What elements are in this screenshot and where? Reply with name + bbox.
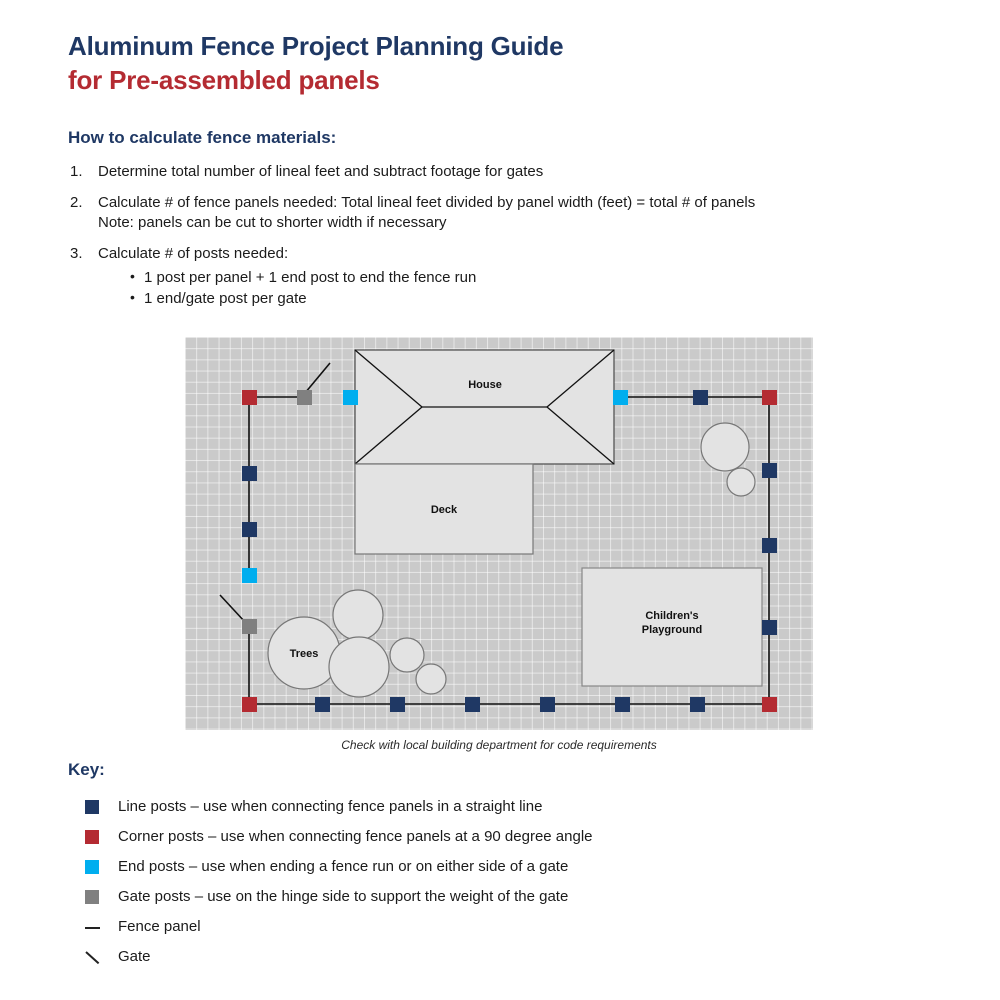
house-label: House	[415, 378, 555, 392]
house-shape	[355, 350, 614, 464]
title-primary-line: Aluminum Fence Project Planning Guide	[68, 29, 563, 63]
line-post[interactable]	[762, 538, 777, 553]
key-row-gate-post: Gate posts – use on the hinge side to su…	[68, 882, 948, 912]
key-label: Gate posts – use on the hinge side to su…	[118, 887, 568, 907]
how-to-step-1: 1. Determine total number of lineal feet…	[68, 162, 938, 182]
how-to-step-2: 2. Calculate # of fence panels needed: T…	[68, 193, 938, 233]
key-row-gate: Gate	[68, 942, 948, 972]
bullet-item: 1 post per panel + 1 end post to end the…	[130, 267, 938, 288]
key-row-line-post: Line posts – use when connecting fence p…	[68, 792, 948, 822]
line-post[interactable]	[315, 697, 330, 712]
key-row-fence-panel: Fence panel	[68, 912, 948, 942]
tree-circles-right	[701, 423, 755, 496]
how-to-heading: How to calculate fence materials:	[68, 128, 938, 148]
line-post[interactable]	[762, 463, 777, 478]
end-post[interactable]	[242, 568, 257, 583]
line-post[interactable]	[762, 620, 777, 635]
key-heading: Key:	[68, 760, 948, 780]
how-to-section: How to calculate fence materials: 1. Det…	[68, 128, 938, 320]
how-to-step-3: 3. Calculate # of posts needed: 1 post p…	[68, 244, 938, 309]
key-row-corner-post: Corner posts – use when connecting fence…	[68, 822, 948, 852]
bullet-item: 1 end/gate post per gate	[130, 288, 938, 309]
step-number: 3.	[70, 244, 83, 264]
line-post[interactable]	[390, 697, 405, 712]
end-post[interactable]	[613, 390, 628, 405]
page-title: Aluminum Fence Project Planning Guide fo…	[68, 29, 563, 97]
line-post[interactable]	[615, 697, 630, 712]
step-note: Note: panels can be cut to shorter width…	[98, 213, 938, 233]
gate-swing-lines	[220, 363, 330, 622]
gate-post-swatch-icon	[85, 890, 99, 904]
diagram-caption: Check with local building department for…	[185, 738, 813, 752]
end-post-swatch-icon	[85, 860, 99, 874]
step-number: 1.	[70, 162, 83, 182]
key-label: End posts – use when ending a fence run …	[118, 857, 568, 877]
key-label: Corner posts – use when connecting fence…	[118, 827, 593, 847]
gate-post[interactable]	[242, 619, 257, 634]
corner-post[interactable]	[762, 390, 777, 405]
key-label: Fence panel	[118, 917, 201, 937]
line-post[interactable]	[242, 466, 257, 481]
line-post[interactable]	[540, 697, 555, 712]
trees-label: Trees	[264, 647, 344, 661]
end-post[interactable]	[343, 390, 358, 405]
diagram-vector-layer	[185, 337, 813, 730]
yard-layout-diagram: House Deck Trees Children's Playground	[185, 337, 813, 730]
line-post[interactable]	[693, 390, 708, 405]
key-label: Line posts – use when connecting fence p…	[118, 797, 542, 817]
line-post[interactable]	[242, 522, 257, 537]
corner-post-swatch-icon	[85, 830, 99, 844]
corner-post[interactable]	[242, 697, 257, 712]
fence-panel-line-icon	[85, 920, 99, 934]
line-post[interactable]	[465, 697, 480, 712]
playground-label: Children's Playground	[602, 609, 742, 637]
step-number: 2.	[70, 193, 83, 213]
key-section: Key: Line posts – use when connecting fe…	[68, 760, 948, 972]
step-text: Determine total number of lineal feet an…	[98, 162, 938, 182]
gate-post[interactable]	[297, 390, 312, 405]
step-text: Calculate # of fence panels needed: Tota…	[98, 193, 938, 213]
key-label: Gate	[118, 947, 151, 967]
step-3-bullets: 1 post per panel + 1 end post to end the…	[98, 267, 938, 309]
step-text: Calculate # of posts needed:	[98, 244, 938, 264]
line-post-swatch-icon	[85, 800, 99, 814]
key-row-end-post: End posts – use when ending a fence run …	[68, 852, 948, 882]
line-post[interactable]	[690, 697, 705, 712]
corner-post[interactable]	[242, 390, 257, 405]
tree-circles-left	[268, 590, 446, 697]
corner-post[interactable]	[762, 697, 777, 712]
deck-label: Deck	[384, 503, 504, 517]
gate-diagonal-icon	[85, 950, 99, 964]
title-accent-line: for Pre-assembled panels	[68, 63, 563, 97]
